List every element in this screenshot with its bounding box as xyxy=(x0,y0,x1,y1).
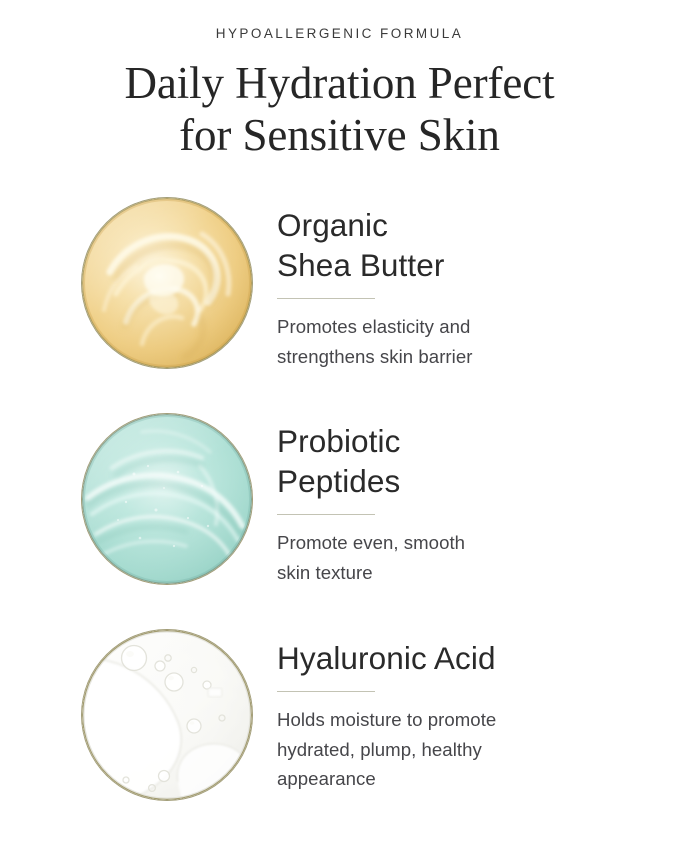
ingredient-description-line-1: Promote even, smooth xyxy=(277,532,465,553)
ingredient-text-block: Hyaluronic Acid Holds moisture to promot… xyxy=(252,630,679,794)
eyebrow-label: HYPOALLERGENIC FORMULA xyxy=(0,27,679,41)
shea-butter-texture-swatch xyxy=(82,198,252,368)
ingredient-text-block: Organic Shea Butter Promotes elasticity … xyxy=(252,198,679,371)
ingredient-description-line-2: skin texture xyxy=(277,562,373,583)
probiotic-peptides-texture-swatch xyxy=(82,414,252,584)
divider xyxy=(277,298,375,299)
header: HYPOALLERGENIC FORMULA Daily Hydration P… xyxy=(0,0,679,162)
ingredient-name-line-1: Hyaluronic Acid xyxy=(277,640,496,676)
ingredient-description-line-3: appearance xyxy=(277,768,376,789)
list-item: Hyaluronic Acid Holds moisture to promot… xyxy=(82,630,679,800)
page-title: Daily Hydration Perfect for Sensitive Sk… xyxy=(0,57,679,162)
ingredient-description-line-2: strengthens skin barrier xyxy=(277,346,473,367)
ingredient-name-line-2: Shea Butter xyxy=(277,247,444,283)
ingredient-name: Organic Shea Butter xyxy=(277,205,607,285)
divider xyxy=(277,691,375,692)
ingredient-name: Probiotic Peptides xyxy=(277,421,607,501)
ingredient-list: Organic Shea Butter Promotes elasticity … xyxy=(0,198,679,800)
ingredient-description-line-2: hydrated, plump, healthy xyxy=(277,739,482,760)
swatch-image xyxy=(82,198,252,368)
ingredient-name-line-2: Peptides xyxy=(277,463,400,499)
ingredient-name-line-1: Organic xyxy=(277,207,388,243)
divider xyxy=(277,514,375,515)
ingredient-description-line-1: Promotes elasticity and xyxy=(277,316,470,337)
page-title-line-2: for Sensitive Skin xyxy=(0,109,679,162)
ingredient-description-line-1: Holds moisture to promote xyxy=(277,709,496,730)
page-title-line-1: Daily Hydration Perfect xyxy=(0,57,679,110)
ingredient-name-line-1: Probiotic xyxy=(277,423,400,459)
swatch-image xyxy=(82,630,252,800)
ingredient-description: Promote even, smooth skin texture xyxy=(277,528,595,587)
list-item: Organic Shea Butter Promotes elasticity … xyxy=(82,198,679,371)
ingredient-text-block: Probiotic Peptides Promote even, smooth … xyxy=(252,414,679,587)
hyaluronic-acid-texture-swatch xyxy=(82,630,252,800)
ingredient-description: Promotes elasticity and strengthens skin… xyxy=(277,312,595,371)
ingredient-name: Hyaluronic Acid xyxy=(277,638,637,678)
ingredient-description: Holds moisture to promote hydrated, plum… xyxy=(277,705,607,793)
list-item: Probiotic Peptides Promote even, smooth … xyxy=(82,414,679,587)
swatch-image xyxy=(82,414,252,584)
ingredients-infographic: HYPOALLERGENIC FORMULA Daily Hydration P… xyxy=(0,0,679,849)
